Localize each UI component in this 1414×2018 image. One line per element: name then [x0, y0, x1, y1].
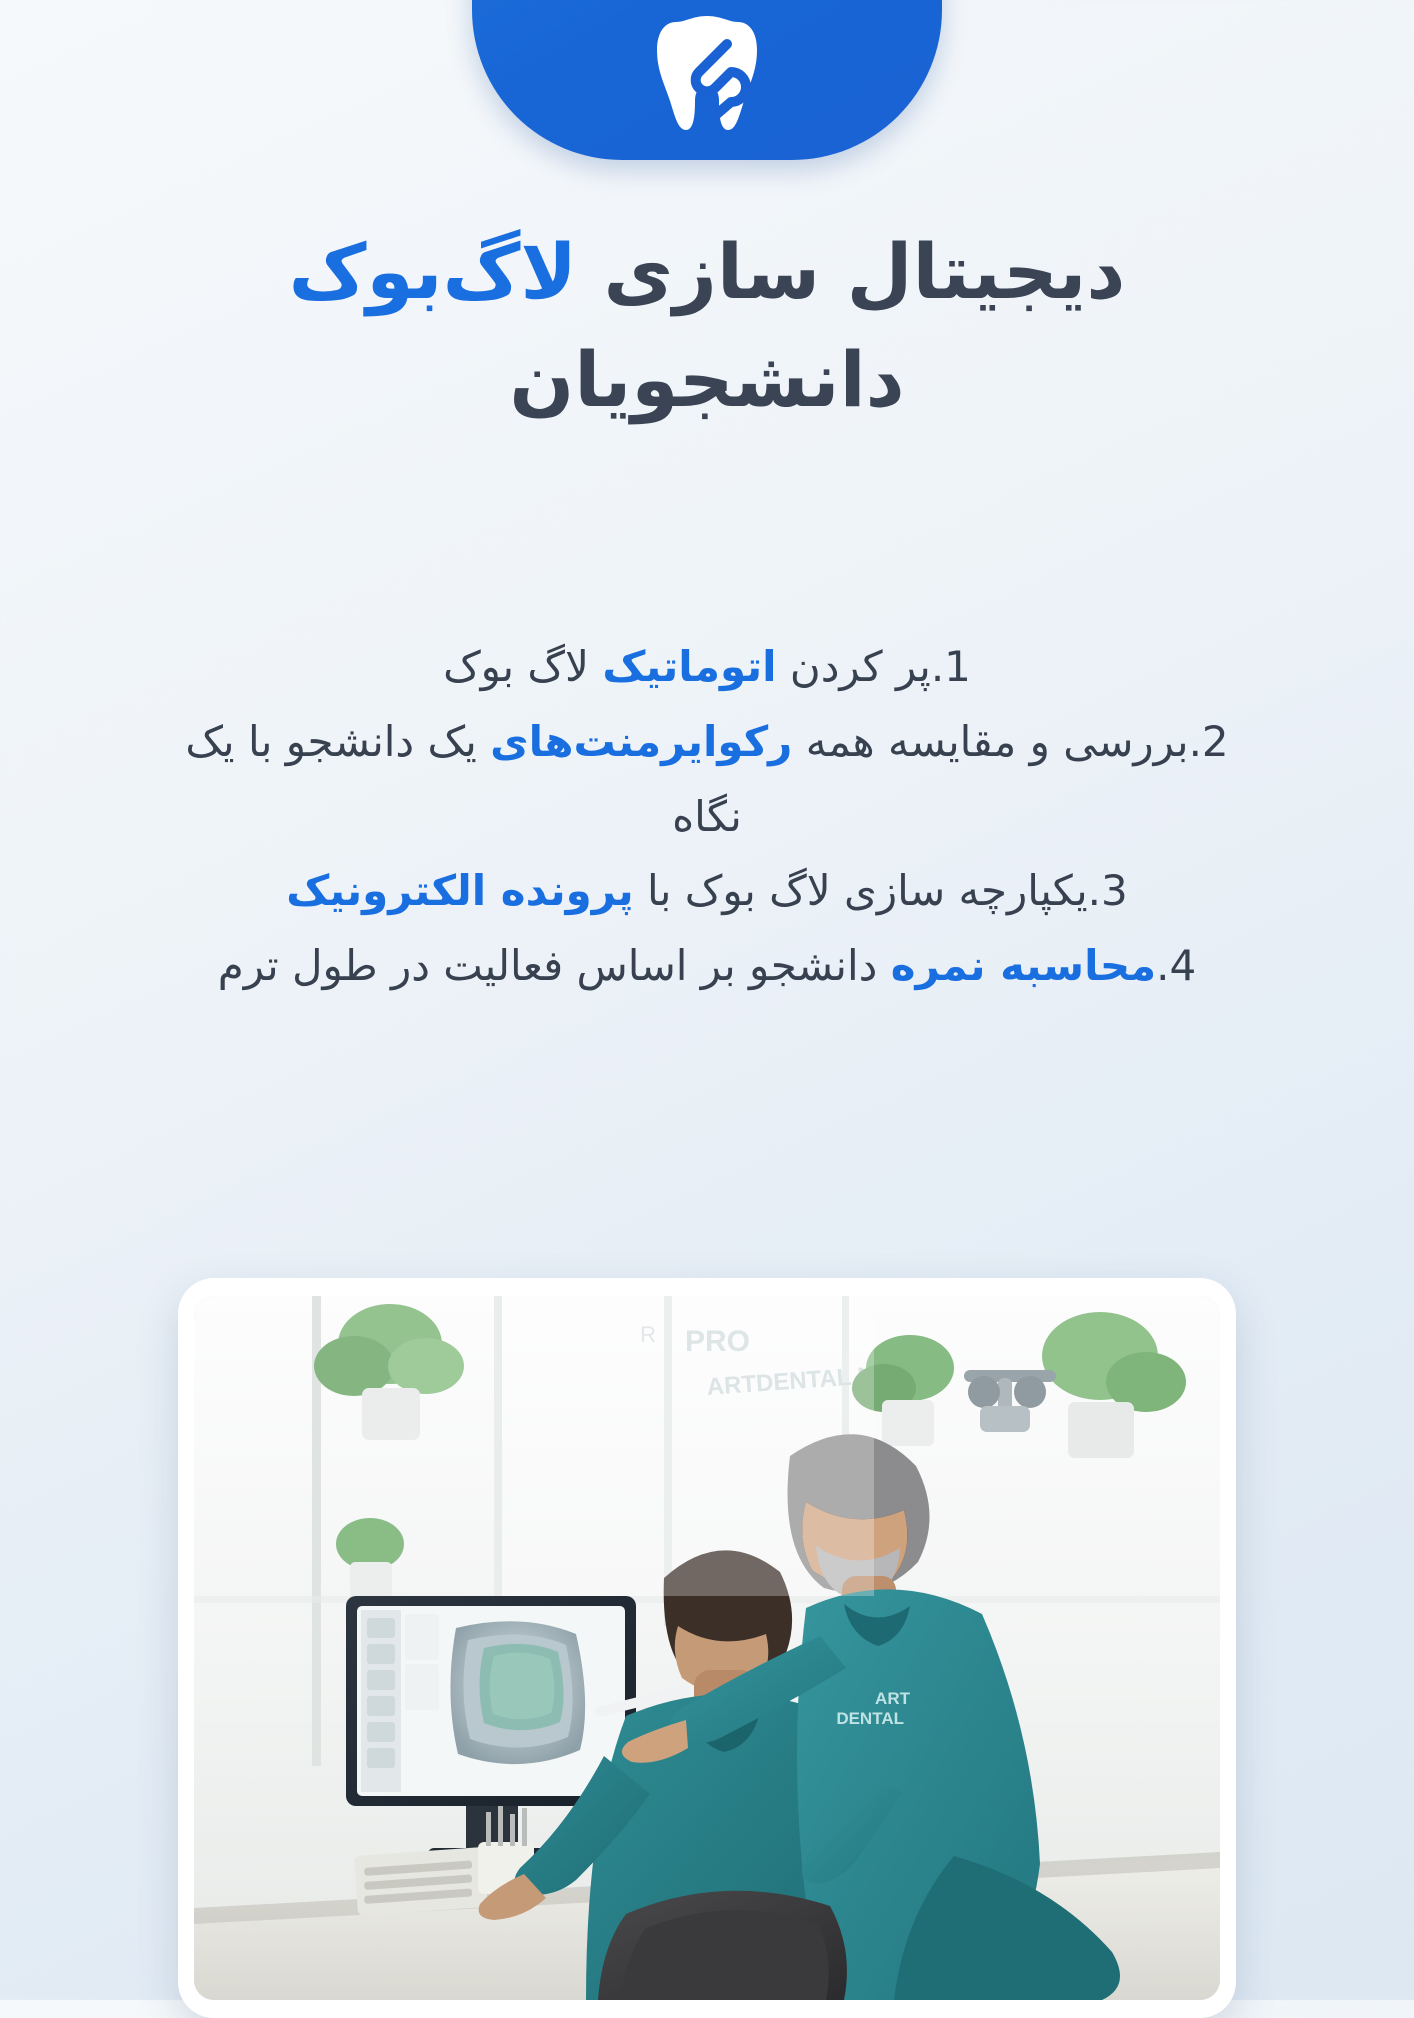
feature-list-item: 1.پر کردن اتوماتیک لاگ بوک: [150, 630, 1264, 705]
feature-list: 1.پر کردن اتوماتیک لاگ بوک2.بررسی و مقای…: [0, 630, 1414, 1004]
feature-text: لاگ بوک: [443, 642, 602, 691]
tooth-s-logo-icon: [655, 14, 759, 132]
feature-list-item: 2.بررسی و مقایسه همه رکوایرمنت‌های یک دا…: [150, 705, 1264, 855]
feature-list-item-number: 4.: [1156, 941, 1196, 990]
feature-text: پر کردن: [777, 642, 931, 691]
feature-list-item: 4.محاسبه نمره دانشجو بر اساس فعالیت در ط…: [150, 929, 1264, 1004]
feature-list-item-number: 3.: [1088, 866, 1128, 915]
feature-text: دانشجو بر اساس فعالیت در طول ترم: [218, 941, 891, 990]
feature-list-item: 3.یکپارچه سازی لاگ بوک با پرونده الکترون…: [150, 854, 1264, 929]
page-title: دیجیتال سازی لاگ‌بوک دانشجویان: [0, 218, 1414, 434]
feature-text: بررسی و مقایسه همه: [792, 717, 1188, 766]
page-title-line1-prefix: دیجیتال سازی: [577, 227, 1125, 316]
feature-highlight: محاسبه نمره: [891, 941, 1156, 990]
feature-list-item-number: 1.: [931, 642, 971, 691]
brand-badge: [472, 0, 942, 160]
page-title-line1-accent: لاگ‌بوک: [289, 227, 577, 316]
photo-screen: PRO R ARTDENTAL NET: [194, 1296, 1220, 2000]
page-title-line2: دانشجویان: [509, 335, 904, 424]
feature-text: یکپارچه سازی لاگ بوک با: [634, 866, 1088, 915]
feature-list-item-number: 2.: [1189, 717, 1229, 766]
dental-clinic-photo: PRO R ARTDENTAL NET: [194, 1296, 1220, 2000]
feature-highlight: پرونده الکترونیک: [286, 866, 633, 915]
feature-highlight: رکوایرمنت‌های: [490, 717, 792, 766]
photo-card: PRO R ARTDENTAL NET: [178, 1278, 1236, 2018]
feature-highlight: اتوماتیک: [602, 642, 776, 691]
